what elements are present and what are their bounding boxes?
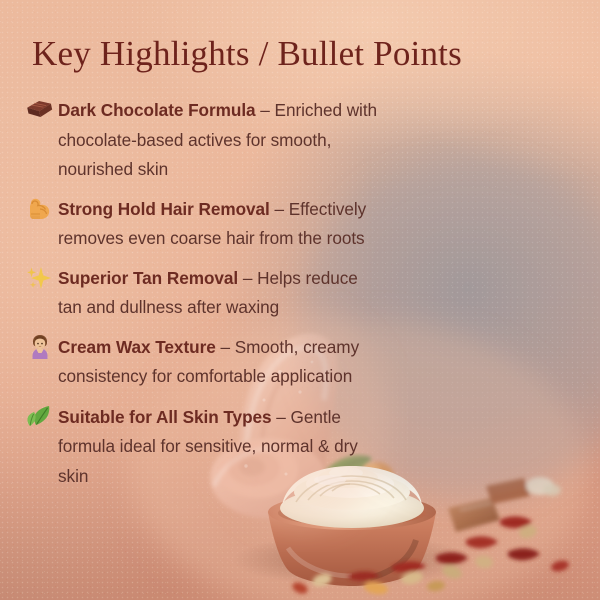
page-title: Key Highlights / Bullet Points (32, 34, 462, 74)
list-item-title: Cream Wax Texture (58, 337, 216, 357)
list-item-title: Strong Hold Hair Removal (58, 199, 270, 219)
list-item: Cream Wax Texture – Smooth, creamy consi… (22, 333, 382, 392)
list-item-dash: – (216, 337, 235, 357)
list-item-text: Suitable for All Skin Types – Gentle for… (58, 403, 382, 492)
list-item: Strong Hold Hair Removal – Effectively r… (22, 195, 382, 254)
list-item: Suitable for All Skin Types – Gentle for… (22, 403, 382, 492)
list-item-text: Strong Hold Hair Removal – Effectively r… (58, 195, 382, 254)
list-item-dash: – (272, 407, 291, 427)
list-item-text: Cream Wax Texture – Smooth, creamy consi… (58, 333, 382, 392)
list-item: Superior Tan Removal – Helps reduce tan … (22, 264, 382, 323)
list-item-title: Suitable for All Skin Types (58, 407, 272, 427)
list-item-dash: – (238, 268, 257, 288)
herb-leaf-icon (22, 403, 58, 434)
highlights-graphic: Key Highlights / Bullet Points Dark Choc… (0, 0, 600, 600)
list-item-text: Superior Tan Removal – Helps reduce tan … (58, 264, 382, 323)
list-item-text: Dark Chocolate Formula – Enriched with c… (58, 96, 382, 185)
list-item-title: Dark Chocolate Formula (58, 100, 256, 120)
sparkles-icon (22, 264, 58, 295)
chocolate-bar-icon (22, 96, 58, 127)
highlights-list: Dark Chocolate Formula – Enriched with c… (22, 96, 382, 491)
list-item-dash: – (270, 199, 289, 219)
list-item: Dark Chocolate Formula – Enriched with c… (22, 96, 382, 185)
list-item-dash: – (256, 100, 275, 120)
list-item-title: Superior Tan Removal (58, 268, 238, 288)
flexed-biceps-icon (22, 195, 58, 226)
woman-icon (22, 333, 58, 364)
